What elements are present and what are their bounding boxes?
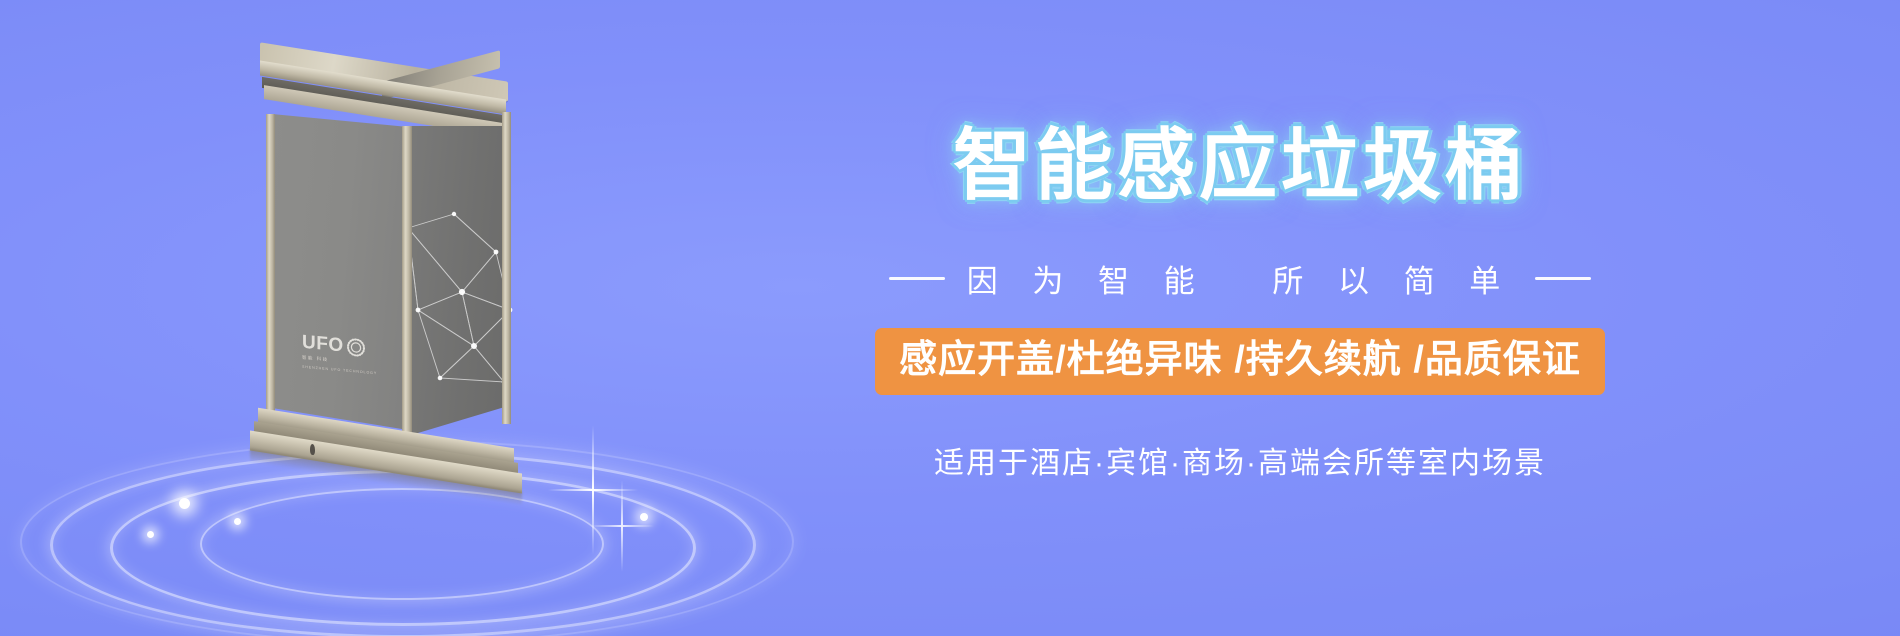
smart-trash-bin-image: UFO 智能 科技 SHENZHEN UFO TECHNOLOGY — [250, 56, 550, 474]
product-stage: UFO 智能 科技 SHENZHEN UFO TECHNOLOGY — [0, 0, 780, 636]
water-ripple-ring-3 — [200, 488, 604, 600]
bin-corner-post-middle — [402, 126, 412, 448]
subline-rule-right — [1535, 277, 1591, 280]
sparkle-dot-4 — [640, 513, 648, 521]
sparkle-star-icon-1 — [548, 425, 638, 555]
feature-badge-wrap: 感应开盖/杜绝异味 /持久续航 /品质保证 — [735, 328, 1745, 395]
sparkle-dot-2 — [147, 531, 154, 538]
bin-corner-post-right — [502, 112, 511, 424]
subline-text: 因 为 智 能 所 以 简 单 — [967, 256, 1514, 301]
bin-corner-post-left — [266, 114, 275, 440]
product-logo: UFO 智能 科技 SHENZHEN UFO TECHNOLOGY — [302, 333, 376, 395]
feature-badge: 感应开盖/杜绝异味 /持久续航 /品质保证 — [875, 328, 1605, 395]
bin-keyhole-icon — [310, 444, 315, 456]
subline-row: 因 为 智 能 所 以 简 单 — [735, 256, 1745, 301]
headline-title: 智能感应垃圾桶 — [735, 126, 1745, 204]
logo-wordmark: UFO — [302, 333, 344, 356]
water-ripple-ring-2 — [110, 470, 696, 626]
sparkle-star-icon-2 — [590, 480, 654, 572]
subline-rule-left — [889, 277, 945, 280]
scene-description: 适用于酒店·宾馆·商场·高端会所等室内场景 — [735, 438, 1745, 482]
product-banner: UFO 智能 科技 SHENZHEN UFO TECHNOLOGY 智能感应垃圾… — [0, 0, 1900, 636]
sparkle-dot-1 — [179, 498, 190, 509]
logo-circle-icon — [347, 337, 365, 357]
banner-copy-column: 智能感应垃圾桶 因 为 智 能 所 以 简 单 感应开盖/杜绝异味 /持久续航 … — [735, 0, 1745, 636]
polygon-network-graphic — [400, 206, 518, 406]
sparkle-dot-3 — [234, 518, 241, 525]
